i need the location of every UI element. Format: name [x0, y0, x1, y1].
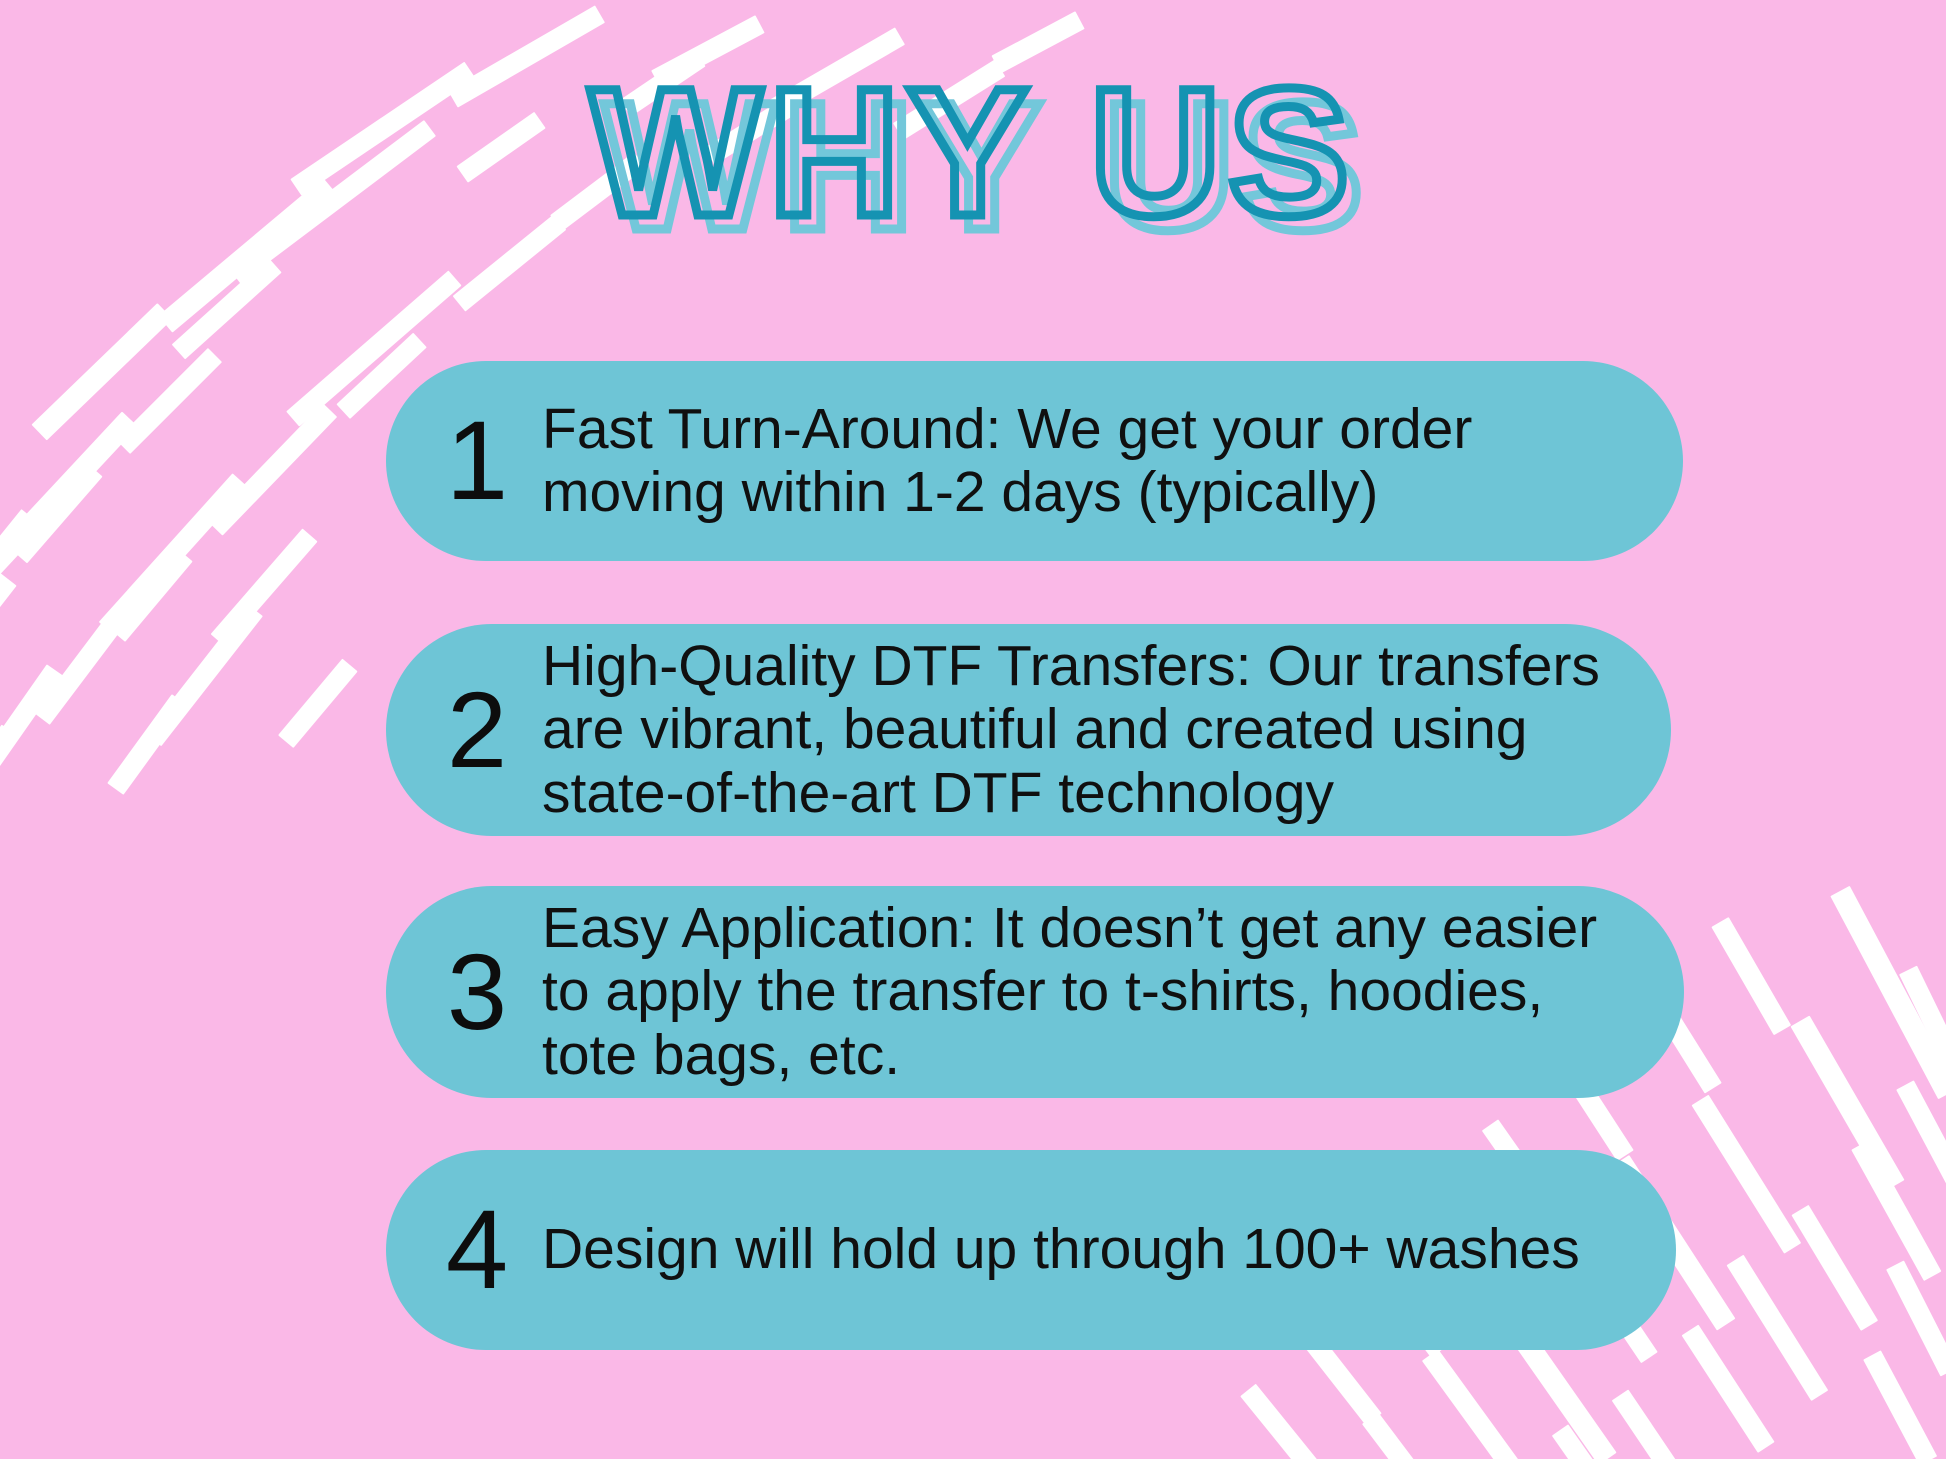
- list-item-text: High-Quality DTF Transfers: Our transfer…: [542, 635, 1671, 825]
- list-item-number: 4: [434, 1194, 520, 1306]
- benefit-list: 1 Fast Turn-Around: We get your order mo…: [0, 0, 1946, 1459]
- list-item-number: 1: [434, 405, 520, 517]
- list-item: 1 Fast Turn-Around: We get your order mo…: [386, 361, 1683, 561]
- list-item-text: Fast Turn-Around: We get your order movi…: [542, 398, 1683, 525]
- why-us-poster: WHY US WHY US 1 Fast Turn-Around: We get…: [0, 0, 1946, 1459]
- list-item: 3 Easy Application: It doesn’t get any e…: [386, 886, 1684, 1098]
- list-item: 4 Design will hold up through 100+ washe…: [386, 1150, 1676, 1350]
- list-item-number: 2: [434, 676, 520, 784]
- list-item-text: Design will hold up through 100+ washes: [542, 1218, 1676, 1281]
- list-item-number: 3: [434, 938, 520, 1046]
- list-item: 2 High-Quality DTF Transfers: Our transf…: [386, 624, 1671, 836]
- list-item-text: Easy Application: It doesn’t get any eas…: [542, 897, 1684, 1087]
